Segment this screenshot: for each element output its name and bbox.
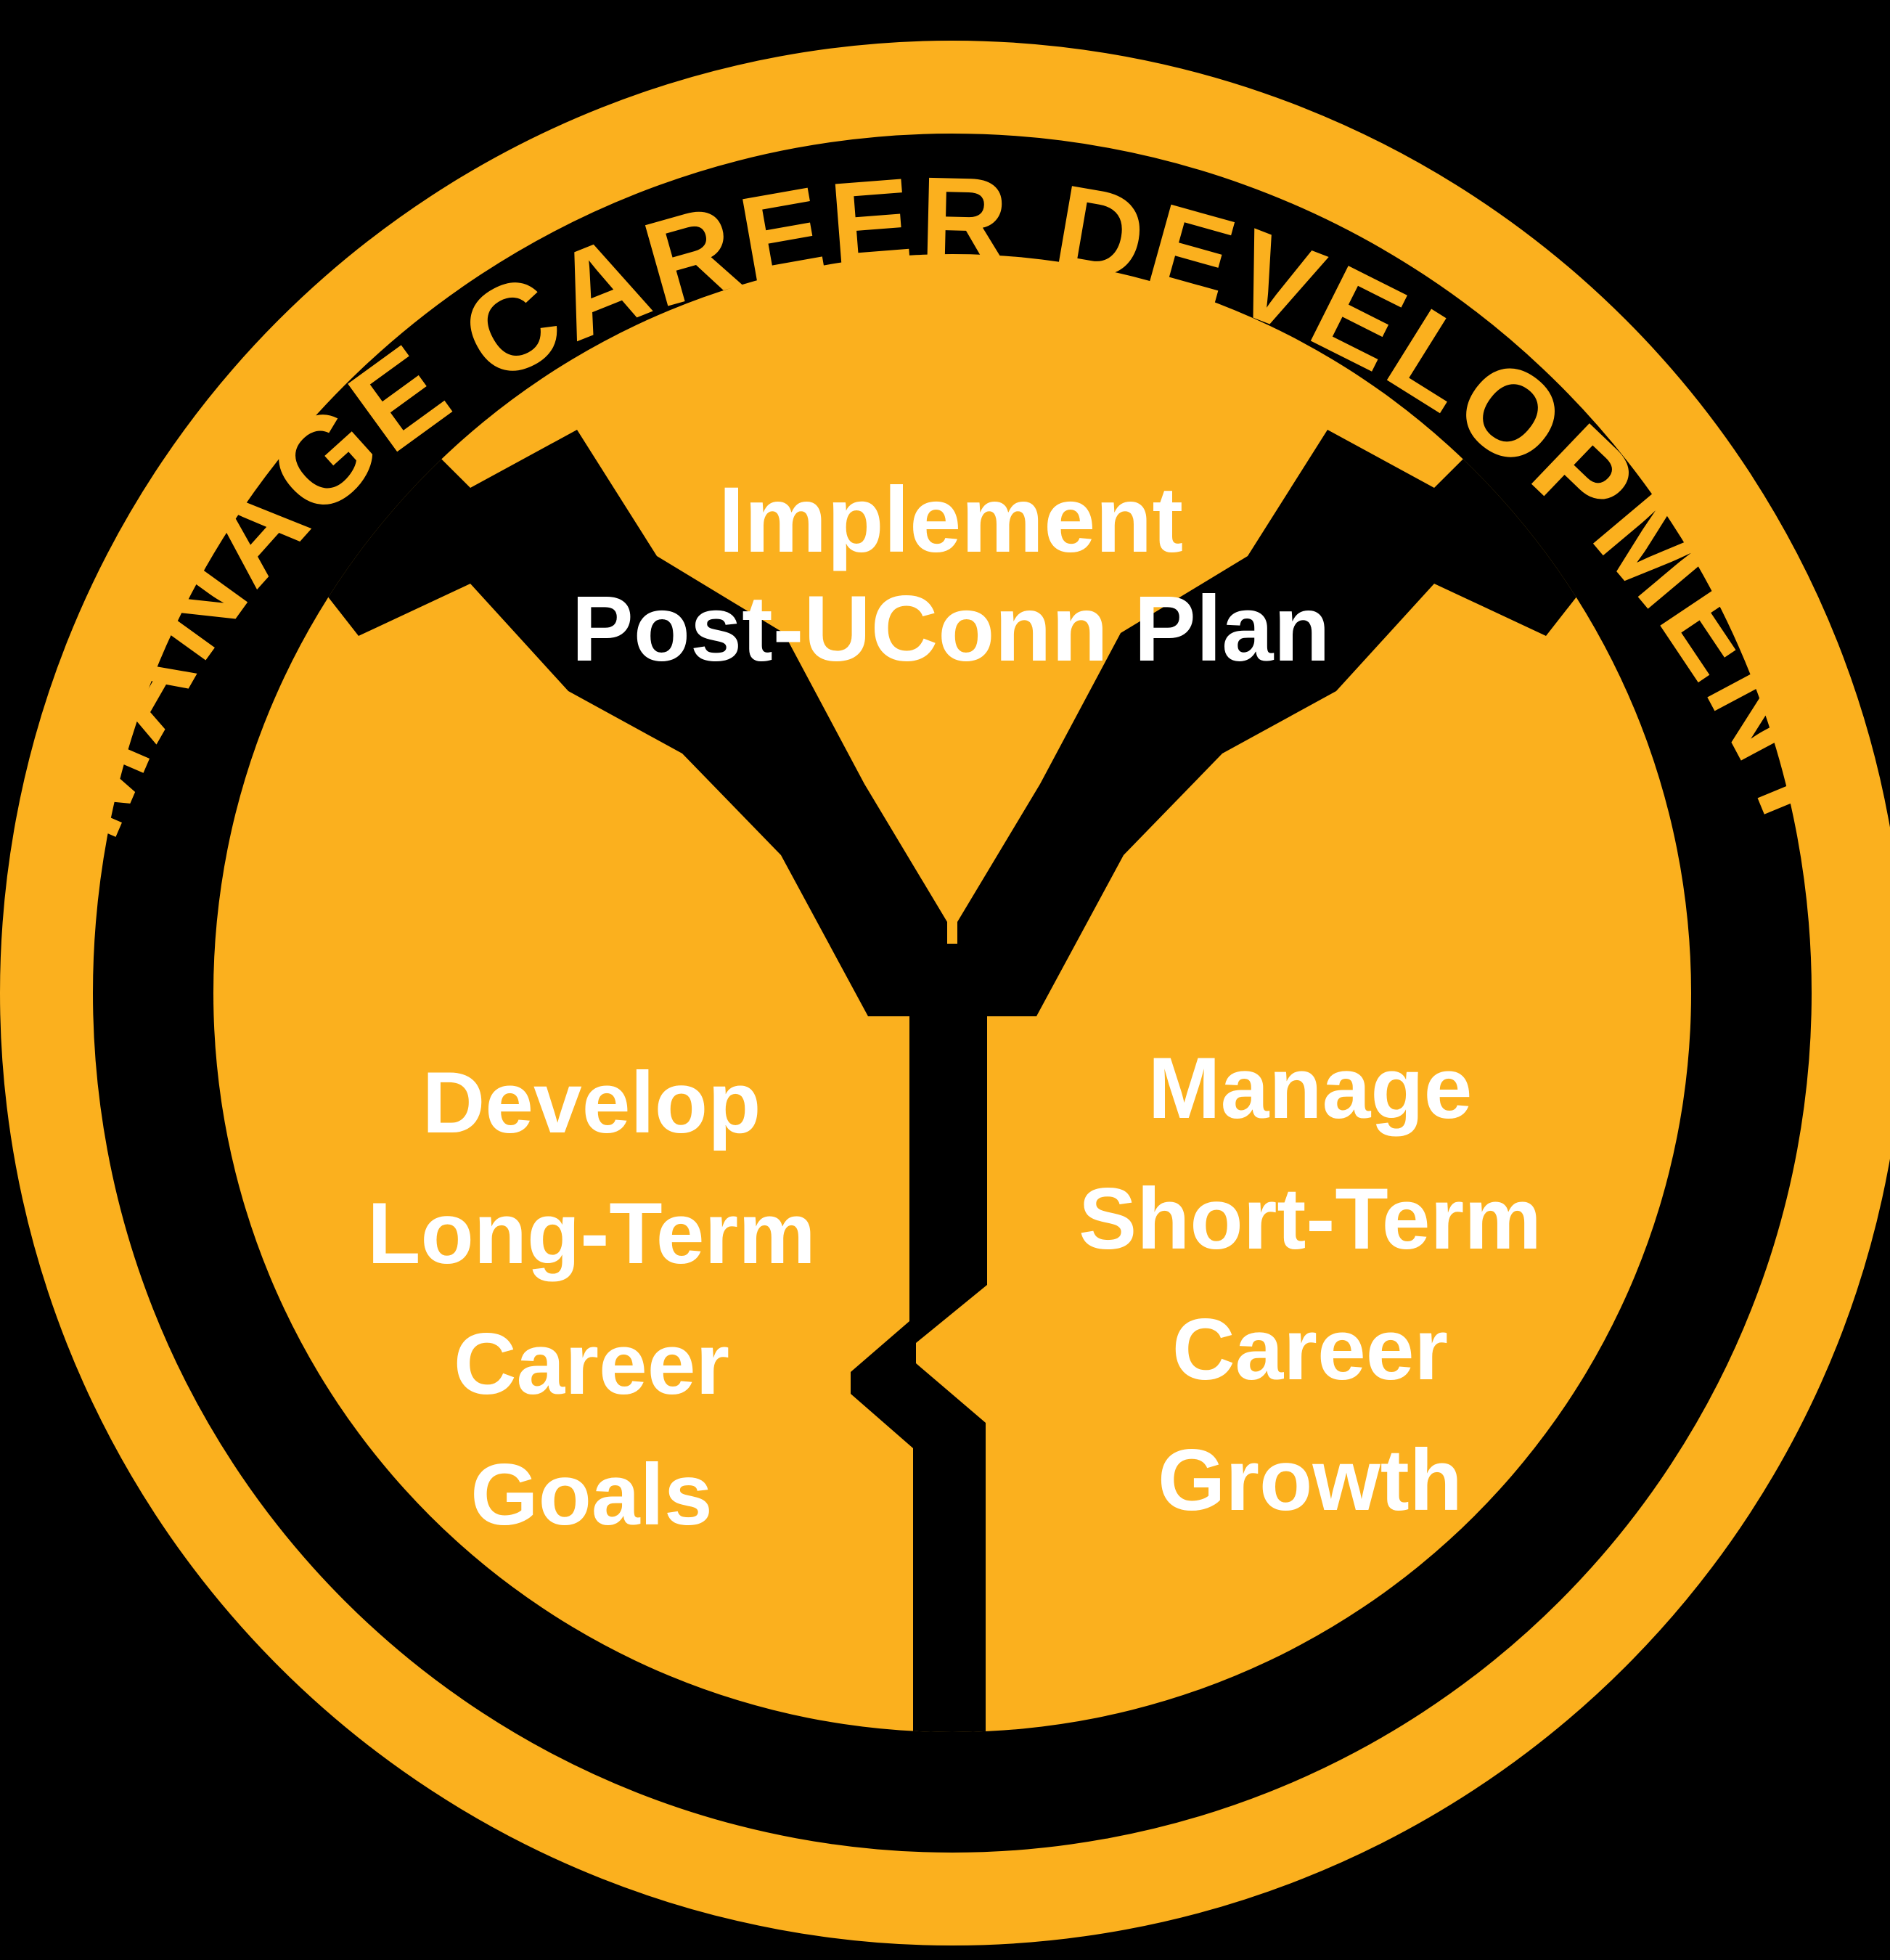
diagram-canvas: MANAGE CAREER DEVELOPMENT Implement Post… [0,0,1890,1960]
segment-right-line-4: Growth [1158,1432,1462,1529]
segment-right-line-2: Short-Term [1079,1170,1542,1267]
segment-right-line-3: Career [1172,1301,1448,1398]
segment-right-line-1: Manage [1148,1040,1473,1137]
segment-left-line-2: Long-Term [367,1185,816,1282]
segment-left-line-3: Career [454,1315,729,1413]
segment-left-line-4: Goals [470,1446,712,1543]
career-development-diagram: MANAGE CAREER DEVELOPMENT Implement Post… [0,0,1890,1960]
segment-left-line-1: Develop [422,1054,761,1151]
segment-top-line-2: Post-UConn Plan [571,577,1330,681]
segment-top-line-1: Implement [719,468,1183,572]
